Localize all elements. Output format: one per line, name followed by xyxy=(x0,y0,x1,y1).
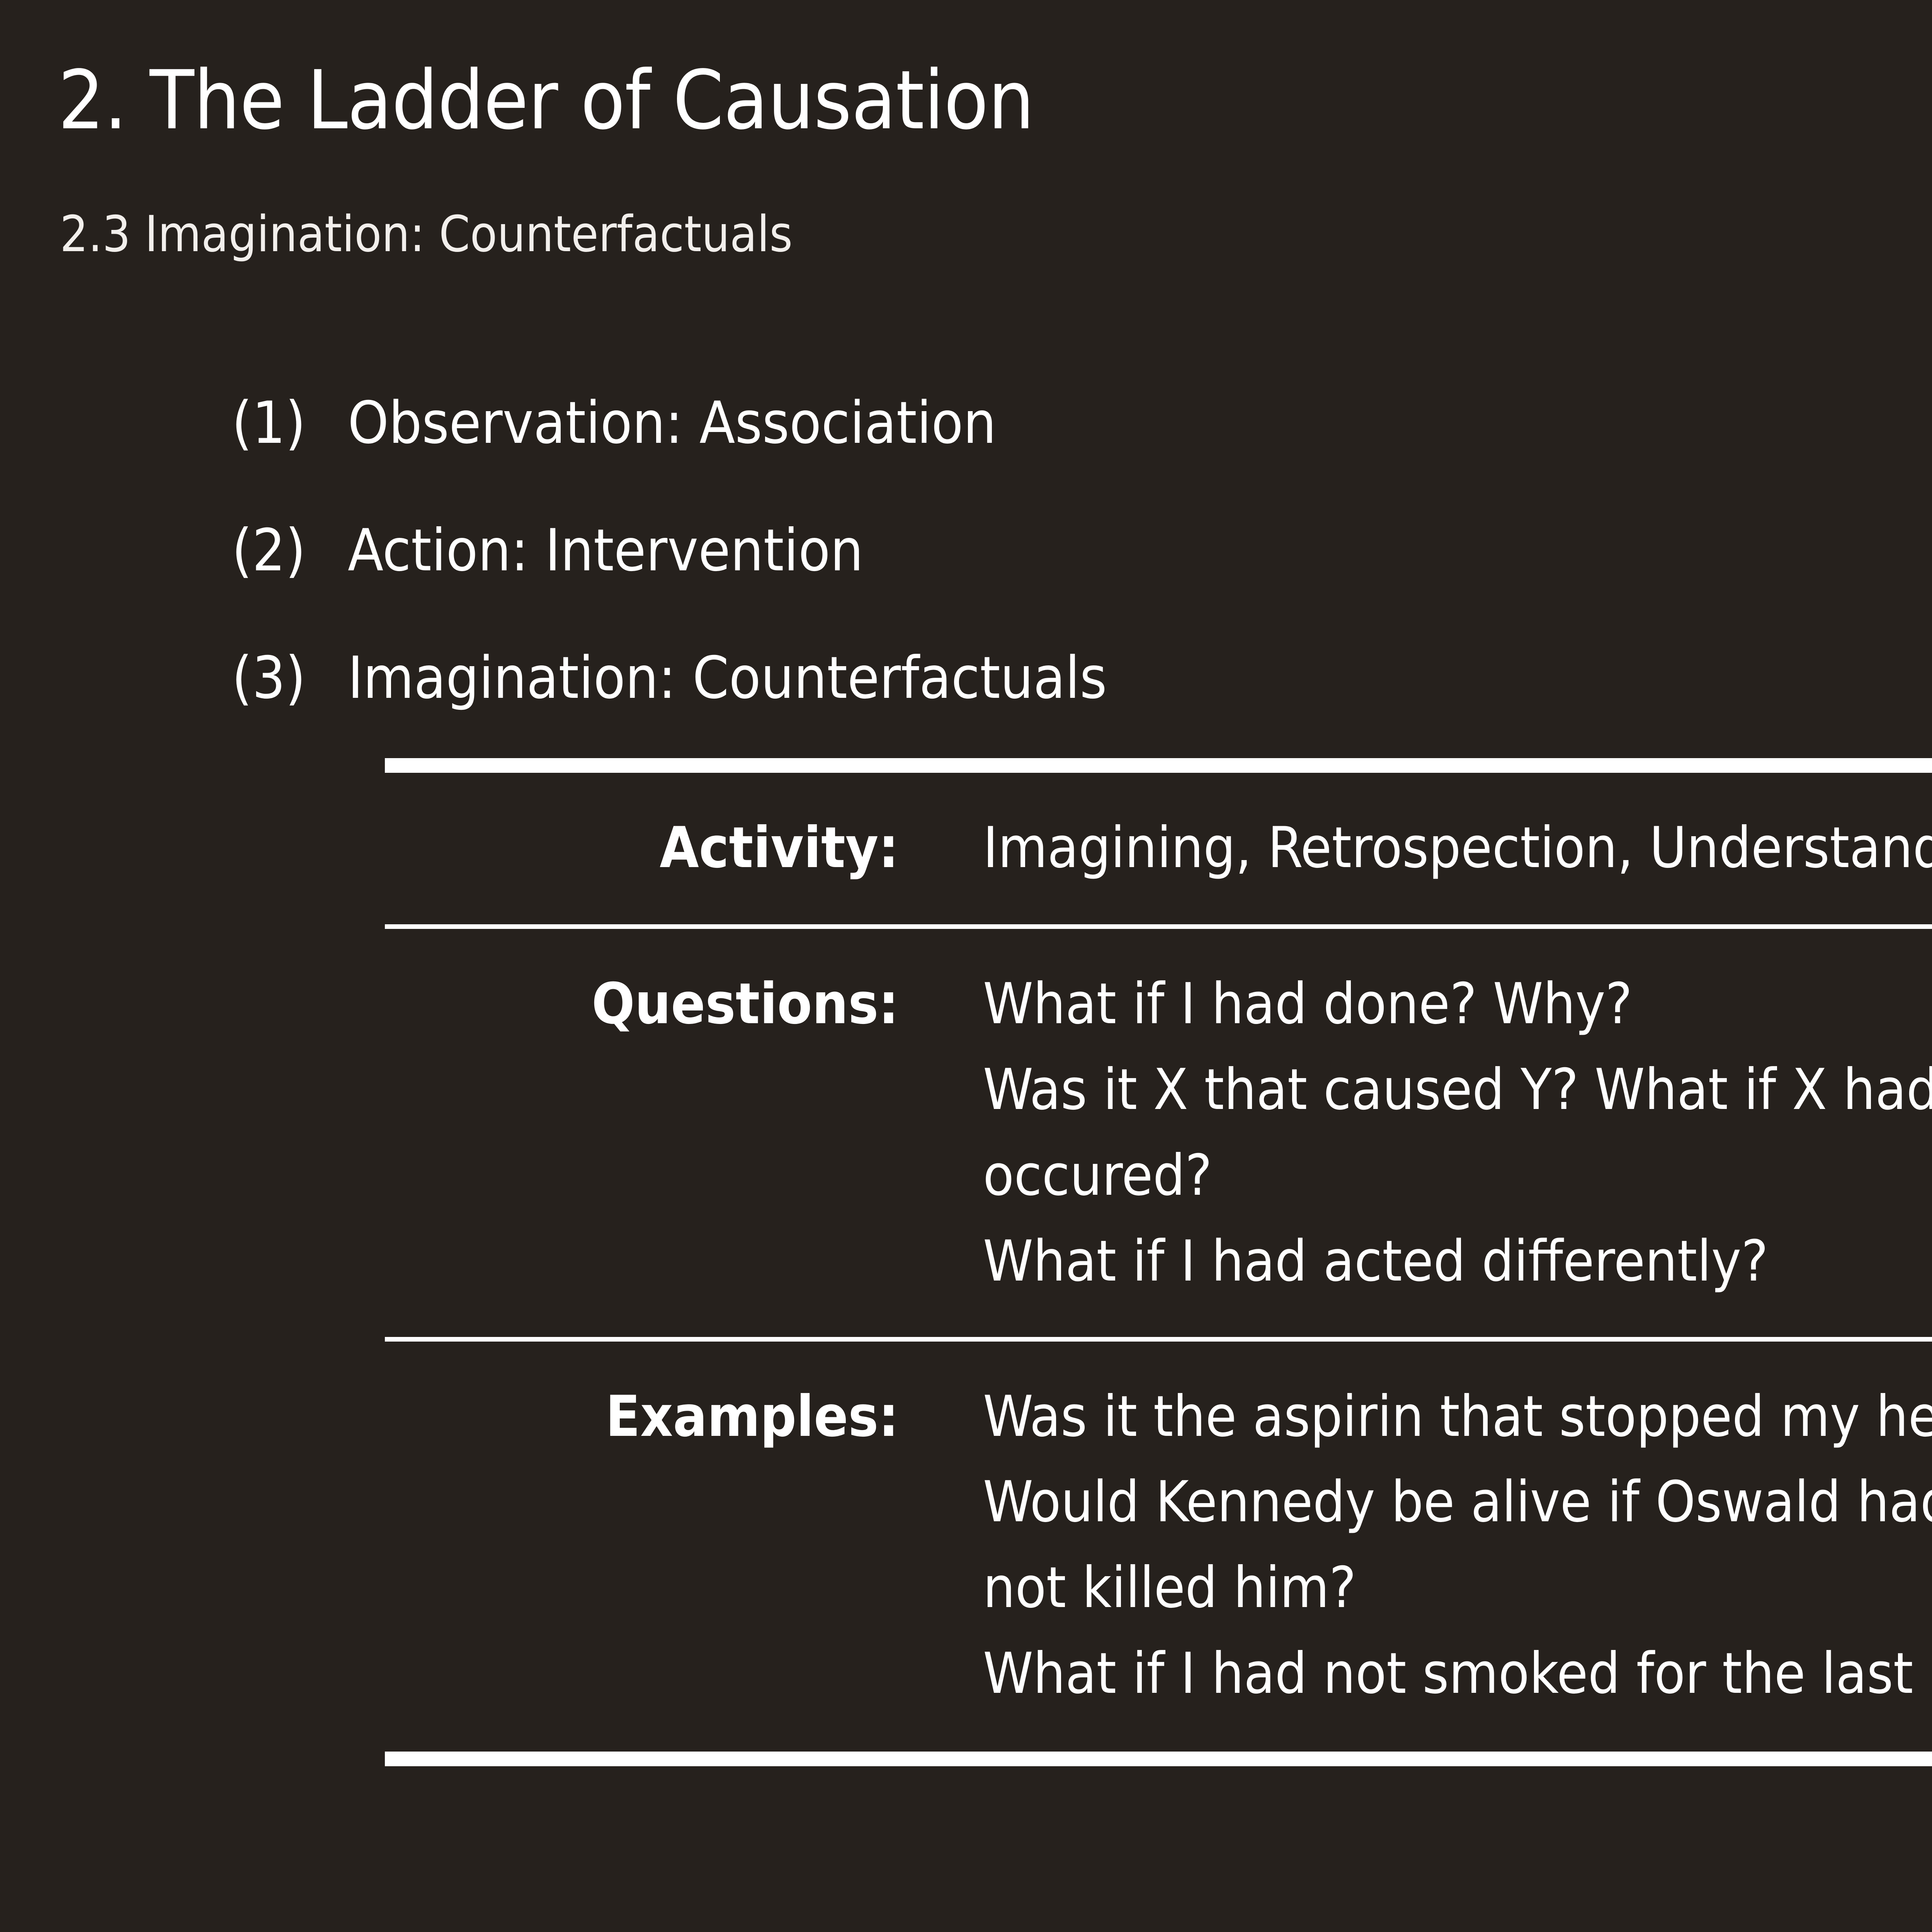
table-bottom-rule xyxy=(385,1752,1932,1766)
list-item: (1) Observation: Association xyxy=(232,394,1932,452)
list-item-number: (1) xyxy=(232,394,348,452)
value-line: What if I had acted differently? xyxy=(983,1219,1932,1304)
list-item-number: (3) xyxy=(232,649,348,707)
value-line: Would Kennedy be alive if Oswald had xyxy=(983,1459,1932,1545)
value-line: occured? xyxy=(983,1133,1932,1219)
counterfactual-table: Activity: Imagining, Retrospection, Unde… xyxy=(385,758,1932,1766)
page-subtitle: 2.3 Imagination: Counterfactuals xyxy=(60,209,793,260)
row-label-activity: Activity: xyxy=(385,805,899,891)
row-value-examples: Was it the aspirin that stopped my heada… xyxy=(899,1374,1932,1717)
table-mid-rule-1 xyxy=(385,924,1932,929)
row-value-activity: Imagining, Retrospection, Understanding xyxy=(899,805,1932,891)
list-item: (3) Imagination: Counterfactuals xyxy=(232,649,1932,707)
page-title: 2. The Ladder of Causation xyxy=(58,58,1034,143)
table-mid-rule-2 xyxy=(385,1337,1932,1342)
table-row: Examples: Was it the aspirin that stoppe… xyxy=(385,1342,1932,1752)
row-value-questions: What if I had done? Why? Was it X that c… xyxy=(899,961,1932,1304)
list-item-number: (2) xyxy=(232,522,348,580)
ladder-list: (1) Observation: Association (2) Action:… xyxy=(232,394,1932,777)
value-line: What if I had not smoked for the last 2 … xyxy=(983,1631,1932,1717)
beamer-slide: 2. The Ladder of Causation 2.3 Imaginati… xyxy=(0,0,1932,1932)
value-line: Was it X that caused Y? What if X had no… xyxy=(983,1047,1932,1133)
value-line: Was it the aspirin that stopped my heada… xyxy=(983,1374,1932,1460)
row-label-questions: Questions: xyxy=(385,961,899,1047)
table-top-rule xyxy=(385,758,1932,773)
table-row: Questions: What if I had done? Why? Was … xyxy=(385,929,1932,1337)
list-item: (2) Action: Intervention xyxy=(232,522,1932,580)
value-line: not killed him? xyxy=(983,1545,1932,1631)
value-line: What if I had done? Why? xyxy=(983,961,1932,1047)
table-row: Activity: Imagining, Retrospection, Unde… xyxy=(385,773,1932,924)
list-item-label: Action: Intervention xyxy=(348,522,1932,580)
list-item-label: Observation: Association xyxy=(348,394,1932,452)
value-line: Imagining, Retrospection, Understanding xyxy=(983,805,1932,891)
row-label-examples: Examples: xyxy=(385,1374,899,1460)
list-item-label: Imagination: Counterfactuals xyxy=(348,649,1932,707)
